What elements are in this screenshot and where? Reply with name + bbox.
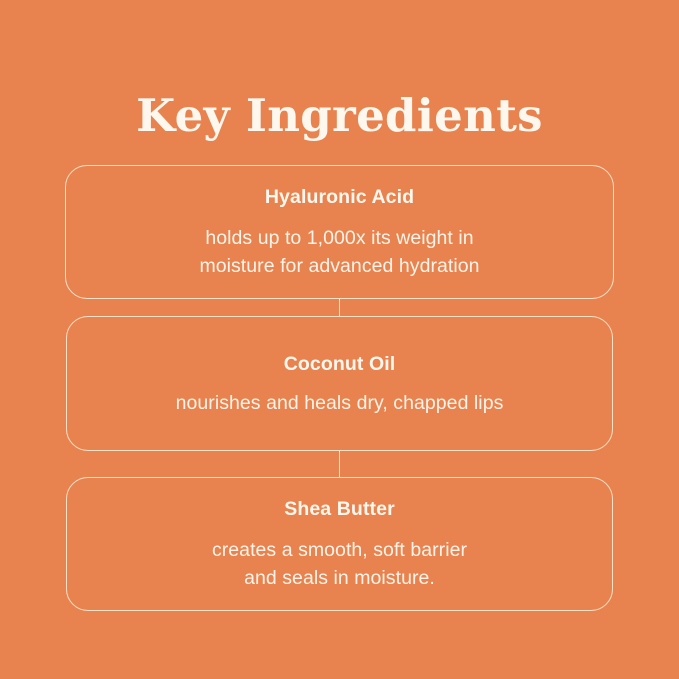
ingredient-card-hyaluronic-acid: Hyaluronic Acid holds up to 1,000x its w…	[65, 165, 614, 299]
key-ingredients-infographic: Key Ingredients Hyaluronic Acid holds up…	[0, 0, 679, 679]
connector-line-2	[339, 451, 340, 478]
ingredient-card-stack: Hyaluronic Acid holds up to 1,000x its w…	[0, 0, 679, 679]
ingredient-description: nourishes and heals dry, chapped lips	[176, 389, 504, 417]
ingredient-description: creates a smooth, soft barrier and seals…	[212, 536, 467, 592]
connector-line-1	[339, 299, 340, 317]
ingredient-heading: Hyaluronic Acid	[265, 184, 414, 210]
ingredient-heading: Shea Butter	[284, 496, 395, 522]
ingredient-heading: Coconut Oil	[284, 351, 396, 377]
ingredient-card-coconut-oil: Coconut Oil nourishes and heals dry, cha…	[66, 316, 613, 451]
ingredient-card-shea-butter: Shea Butter creates a smooth, soft barri…	[66, 477, 613, 611]
ingredient-description: holds up to 1,000x its weight in moistur…	[199, 224, 479, 280]
